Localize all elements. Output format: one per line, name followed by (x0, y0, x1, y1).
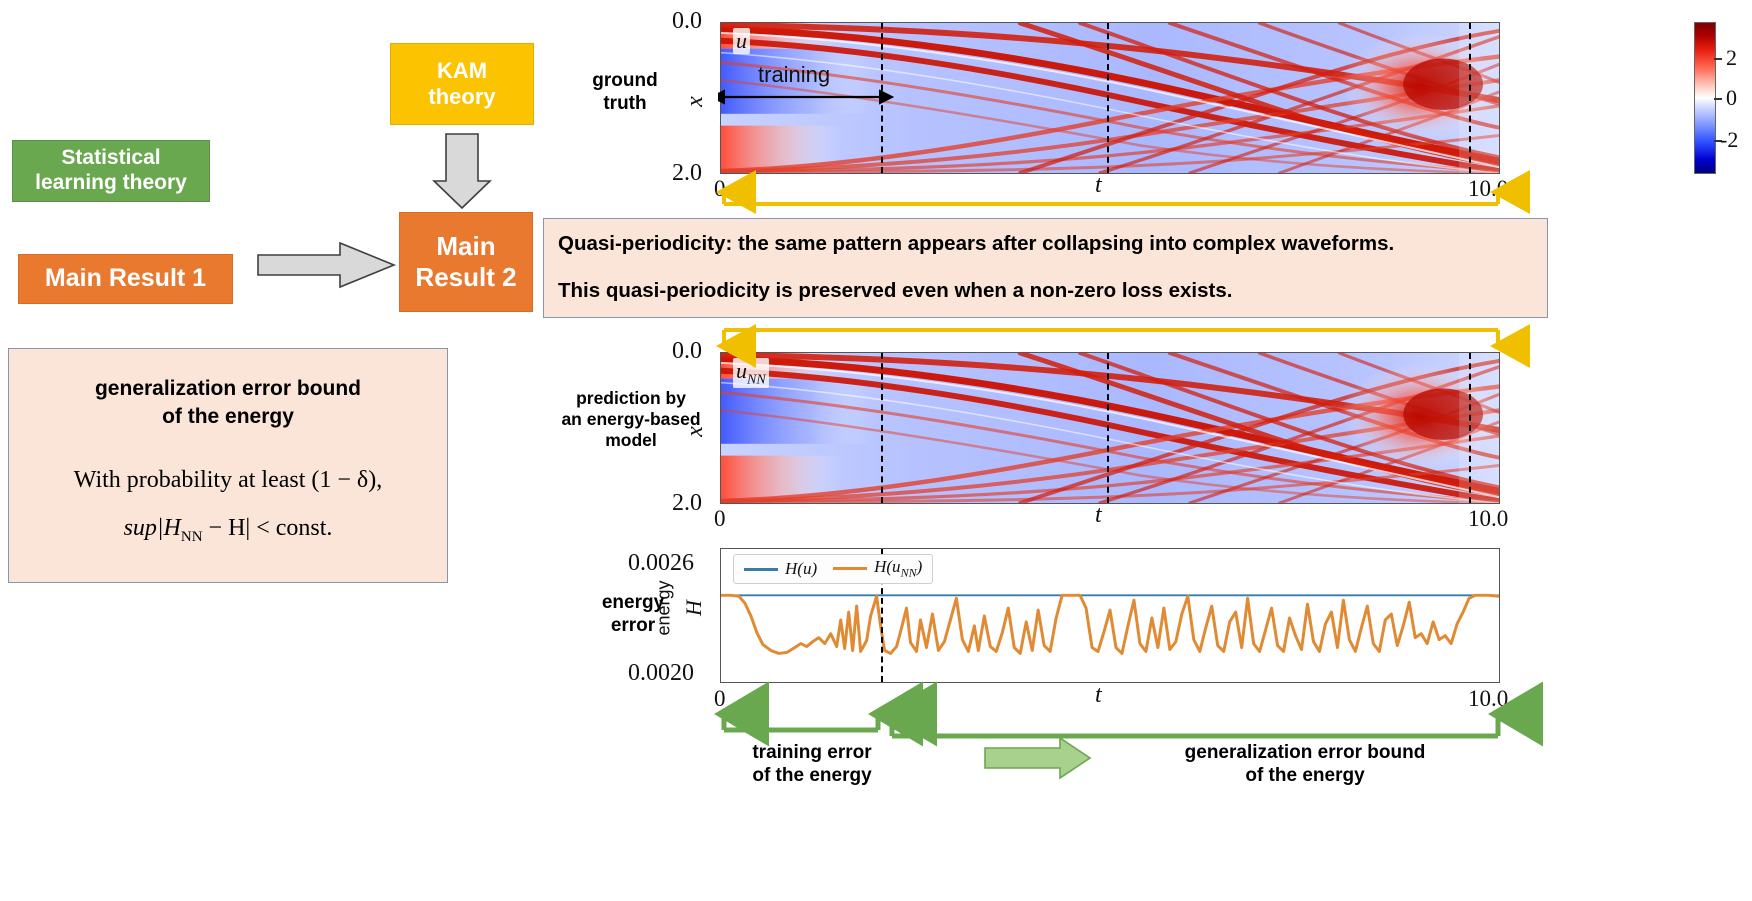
energy-ylabel-inner: H (681, 600, 707, 616)
energy-xtick-left: 0 (714, 686, 726, 712)
gt-caption-line2: truth (570, 93, 680, 116)
pred-caption-line1: prediction by (556, 388, 706, 409)
series-H-uNN (721, 595, 1499, 653)
prediction-heatmap (720, 352, 1500, 504)
pred-ytick-top: 0.0 (672, 338, 702, 365)
legend-swatch-H-u (744, 568, 778, 571)
prediction-heatmap-canvas (721, 353, 1499, 503)
colorbar-label-neg2: -2 (1720, 127, 1738, 153)
colorbar-label-2: 2 (1726, 45, 1737, 71)
energy-ylabel-outer: energy (654, 580, 675, 635)
energy-ytick-bottom: 0.0020 (628, 660, 694, 687)
quasi-line2: This quasi-periodicity is preserved even… (558, 279, 1232, 304)
stat-box-line1: Statistical (61, 146, 160, 171)
gt-caption-line1: ground (570, 70, 680, 93)
energy-ytick-top: 0.0026 (628, 550, 694, 577)
colorbar-tick-0 (1714, 98, 1722, 100)
gt-tag-text: u (736, 28, 747, 53)
prediction-caption: prediction by an energy-based model (556, 388, 706, 451)
main-result-1-label: Main Result 1 (45, 264, 206, 294)
quasi-periodicity-box: Quasi-periodicity: the same pattern appe… (543, 218, 1548, 318)
training-error-line1: training error (727, 742, 897, 765)
gray-arrow-kam-to-mr2 (434, 134, 490, 208)
colorbar-label-0: 0 (1726, 85, 1737, 111)
main-result-1-box: Main Result 1 (18, 254, 233, 304)
training-label-text: training (758, 62, 830, 87)
pred-tag-sub: NN (747, 372, 766, 387)
vline-mid-pred (1107, 353, 1109, 503)
gen-bound-title-line2: of the energy (95, 403, 361, 431)
legend-label-H-uNN: H(uNN) (874, 557, 922, 580)
gen-error-line1: generalization error bound (1150, 742, 1460, 765)
vline-mid-gt (1107, 23, 1109, 173)
quasi-line1: Quasi-periodicity: the same pattern appe… (558, 232, 1394, 257)
generalization-error-annotation: generalization error bound of the energy (1150, 742, 1460, 788)
legend-label-H-uNN-sub: NN (901, 566, 917, 580)
energy-legend: H(u) H(uNN) (733, 554, 933, 584)
gen-bound-body-line1: With probability at least (1 − δ), (74, 466, 382, 494)
energy-xlabel: t (1095, 682, 1102, 709)
training-label: training (758, 62, 830, 88)
vline-right-gt (1469, 23, 1471, 173)
gray-arrow-mr1-to-mr2 (258, 243, 394, 287)
yellow-bracket-lower (724, 330, 1498, 346)
gen-bound-body-line2b: − H| < const. (203, 515, 333, 541)
vline-right-pred (1469, 353, 1471, 503)
gt-ytick-top: 0.0 (672, 8, 702, 35)
legend-label-H-uNN-tail: ) (917, 557, 923, 576)
vline-train-end-pred (881, 353, 883, 503)
stat-box-line2: learning theory (35, 171, 187, 196)
ground-truth-tag: u (733, 28, 750, 54)
pred-xtick-left: 0 (714, 506, 726, 532)
training-error-annotation: training error of the energy (727, 742, 897, 788)
pred-xtick-right: 10.0 (1468, 506, 1508, 532)
main-result-2-line1: Main (436, 231, 495, 262)
main-result-2-line2: Result 2 (415, 262, 516, 293)
pred-tag-text: u (736, 358, 747, 383)
gen-error-line2: of the energy (1150, 765, 1460, 788)
pred-xlabel: t (1095, 502, 1102, 529)
gen-bound-title-line1: generalization error bound (95, 375, 361, 403)
kam-box-line1: KAM (437, 58, 487, 84)
colorbar-tick-2 (1714, 58, 1722, 60)
yellow-bracket-upper (724, 192, 1498, 204)
prediction-tag: uNN (733, 358, 769, 388)
generalization-error-bound-box: generalization error bound of the energy… (8, 348, 448, 583)
gt-ytick-bottom: 2.0 (672, 160, 702, 187)
legend-swatch-H-uNN (833, 567, 867, 570)
legend-label-H-u: H(u) (785, 559, 817, 579)
kam-box-line2: theory (428, 84, 495, 110)
energy-xtick-right: 10.0 (1468, 686, 1508, 712)
kam-theory-box: KAM theory (390, 43, 534, 125)
gt-xtick-right: 10.0 (1468, 176, 1508, 202)
main-result-2-box: Main Result 2 (399, 212, 533, 312)
green-bracket-generalization (892, 714, 1498, 736)
ground-truth-caption: ground truth (570, 70, 680, 116)
legend-item-H-u: H(u) (744, 559, 817, 579)
pred-ylabel: x (682, 426, 709, 437)
legend-label-H-uNN-main: H(u (874, 557, 900, 576)
gt-xtick-left: 0 (714, 176, 726, 202)
colorbar (1694, 22, 1716, 174)
statistical-learning-theory-box: Statistical learning theory (12, 140, 210, 202)
green-block-arrow (985, 738, 1090, 778)
colorbar-gradient (1695, 23, 1715, 173)
gen-bound-body-line2a: sup|H (124, 515, 181, 541)
gt-xlabel: t (1095, 172, 1102, 199)
green-bracket-training (724, 714, 878, 730)
training-error-line2: of the energy (727, 765, 897, 788)
gen-bound-body-sub: NN (181, 529, 203, 545)
pred-ytick-bottom: 2.0 (672, 490, 702, 517)
gt-ylabel: x (682, 96, 709, 107)
figure-root: Statistical learning theory Main Result … (0, 0, 1752, 901)
legend-item-H-uNN: H(uNN) (833, 557, 922, 580)
